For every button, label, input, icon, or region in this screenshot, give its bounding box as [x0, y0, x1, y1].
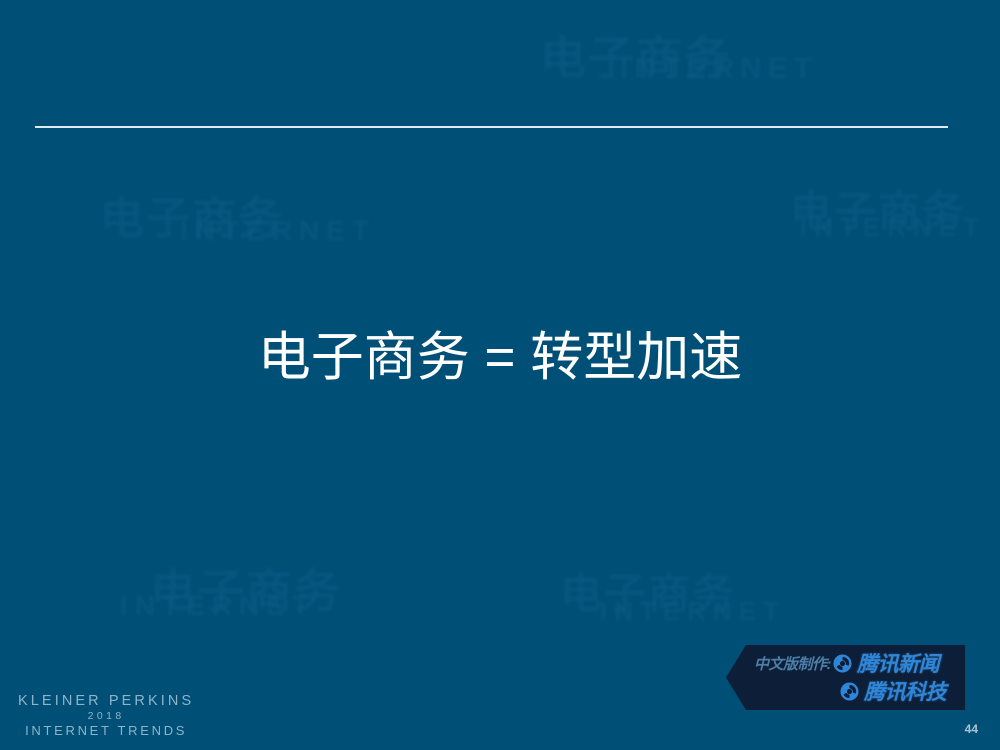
watermark-text: 电子商务 [560, 560, 736, 621]
tencent-swirl-icon [840, 682, 859, 701]
credit-row: 中文版制作: 腾讯新闻 [754, 649, 957, 677]
credit-row: 腾讯科技 [754, 677, 957, 705]
credit-name-tech: 腾讯科技 [864, 676, 946, 706]
watermark-text: 电子商务 [100, 182, 284, 246]
credit-prefix-label: 中文版制作: [754, 653, 831, 674]
kleiner-perkins-logo: KLEINER PERKINS 2018 INTERNET TRENDS [18, 693, 194, 738]
watermark-text: 电子商务 [150, 555, 342, 621]
watermark-text: INTERNET [180, 215, 376, 247]
watermark-text: INTERNET [600, 596, 786, 627]
brand-line-firm: KLEINER PERKINS [18, 693, 194, 709]
watermark-text: 电子商务 [540, 22, 732, 88]
watermark-text: INTERNET [120, 590, 316, 622]
headline-text: 电子商务 = 转型加速 [258, 328, 742, 387]
brand-line-report: INTERNET TRENDS [18, 723, 194, 738]
credit-name-news: 腾讯新闻 [857, 648, 939, 678]
watermark-text: 电子商务 [790, 178, 966, 239]
tencent-swirl-icon [833, 654, 852, 673]
watermark-text: INTERNET [620, 52, 818, 86]
slide-canvas: 电子商务 INTERNET 电子商务 INTERNET 电子商务 INTERNE… [0, 0, 1000, 750]
credit-rows: 中文版制作: 腾讯新闻 腾讯科技 [726, 645, 965, 710]
brand-line-year: 2018 [18, 710, 194, 722]
header-divider-rule [35, 126, 948, 128]
page-number: 44 [965, 722, 978, 736]
translation-credit-banner: 中文版制作: 腾讯新闻 腾讯科技 [726, 645, 965, 710]
section-headline: 电子商务 = 转型加速 [0, 328, 1000, 387]
watermark-text: INTERNET [800, 212, 986, 243]
